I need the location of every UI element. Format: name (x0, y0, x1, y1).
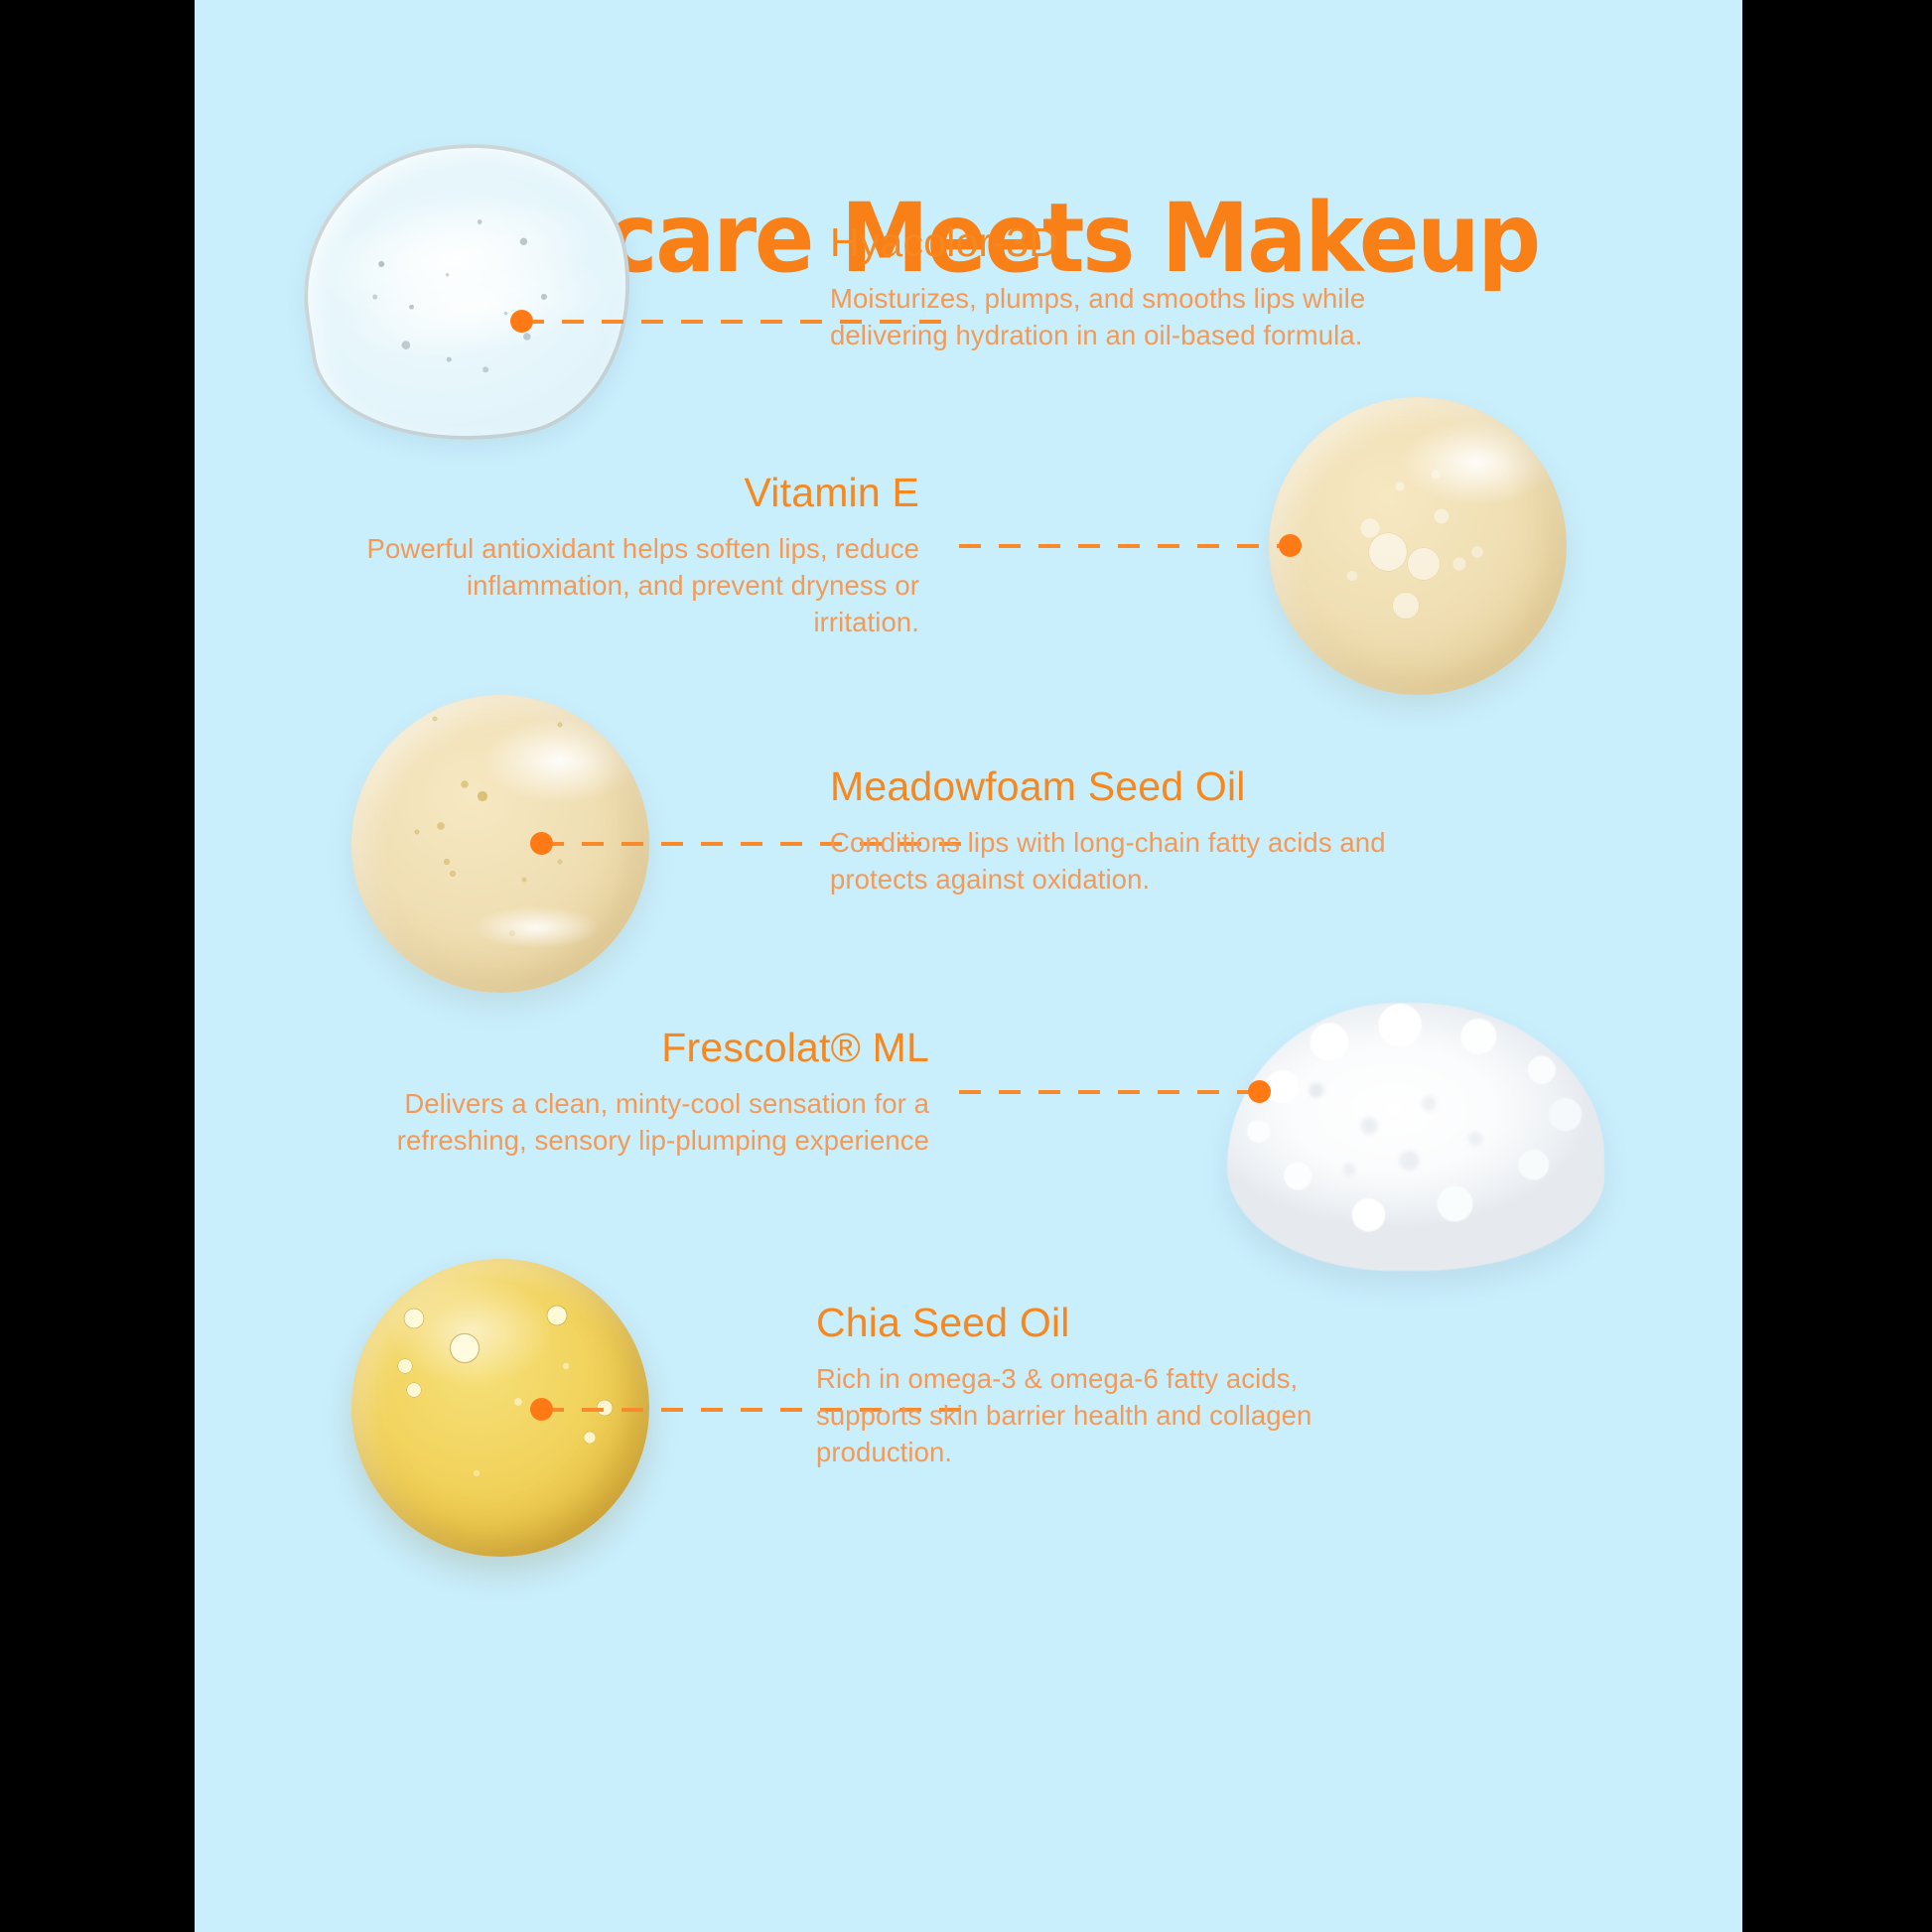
poster-stage: Skincare Meets Makeup Hyacolor-3D Moistu… (0, 0, 1932, 1932)
ingredient-description-hyacolor-3d: Moisturizes, plumps, and smooths lips wh… (830, 280, 1386, 353)
ingredient-title-chia-seed-oil: Chia Seed Oil (816, 1301, 1372, 1346)
text-block-meadowfoam-seed-oil: Meadowfoam Seed Oil Conditions lips with… (830, 764, 1386, 897)
ingredient-title-vitamin-e: Vitamin E (363, 471, 919, 516)
ingredient-title-meadowfoam-seed-oil: Meadowfoam Seed Oil (830, 764, 1386, 810)
connector-dot-vitamin-e (1279, 534, 1302, 557)
white-powder-heap-icon (1227, 1003, 1604, 1271)
ingredient-title-hyacolor-3d: Hyacolor-3D (830, 220, 1386, 266)
connector-dot-hyacolor-3d (510, 310, 533, 333)
connector-line-vitamin-e (959, 544, 1287, 548)
connector-line-frescolat-ml (959, 1090, 1257, 1094)
connector-dot-meadowfoam-seed-oil (530, 832, 553, 855)
connector-dot-frescolat-ml (1248, 1080, 1271, 1103)
pale-yellow-oil-droplet-icon (1269, 397, 1567, 695)
text-block-chia-seed-oil: Chia Seed Oil Rich in omega-3 & omega-6 … (816, 1301, 1372, 1470)
text-block-vitamin-e: Vitamin E Powerful antioxidant helps sof… (363, 471, 919, 640)
ingredient-title-frescolat-ml: Frescolat® ML (334, 1026, 929, 1071)
swatch-vitamin-e (1269, 397, 1567, 695)
ingredient-description-vitamin-e: Powerful antioxidant helps soften lips, … (363, 530, 919, 640)
swatch-frescolat-ml (1227, 1003, 1604, 1271)
ingredient-description-frescolat-ml: Delivers a clean, minty-cool sensation f… (334, 1085, 929, 1159)
poster-card: Skincare Meets Makeup Hyacolor-3D Moistu… (195, 0, 1742, 1932)
clear-gel-droplet-icon (283, 120, 653, 466)
ingredient-description-meadowfoam-seed-oil: Conditions lips with long-chain fatty ac… (830, 824, 1386, 897)
text-block-hyacolor-3d: Hyacolor-3D Moisturizes, plumps, and smo… (830, 220, 1386, 353)
swatch-hyacolor-3d (304, 144, 631, 442)
ingredient-description-chia-seed-oil: Rich in omega-3 & omega-6 fatty acids, s… (816, 1360, 1372, 1470)
text-block-frescolat-ml: Frescolat® ML Delivers a clean, minty-co… (334, 1026, 929, 1159)
connector-dot-chia-seed-oil (530, 1398, 553, 1421)
